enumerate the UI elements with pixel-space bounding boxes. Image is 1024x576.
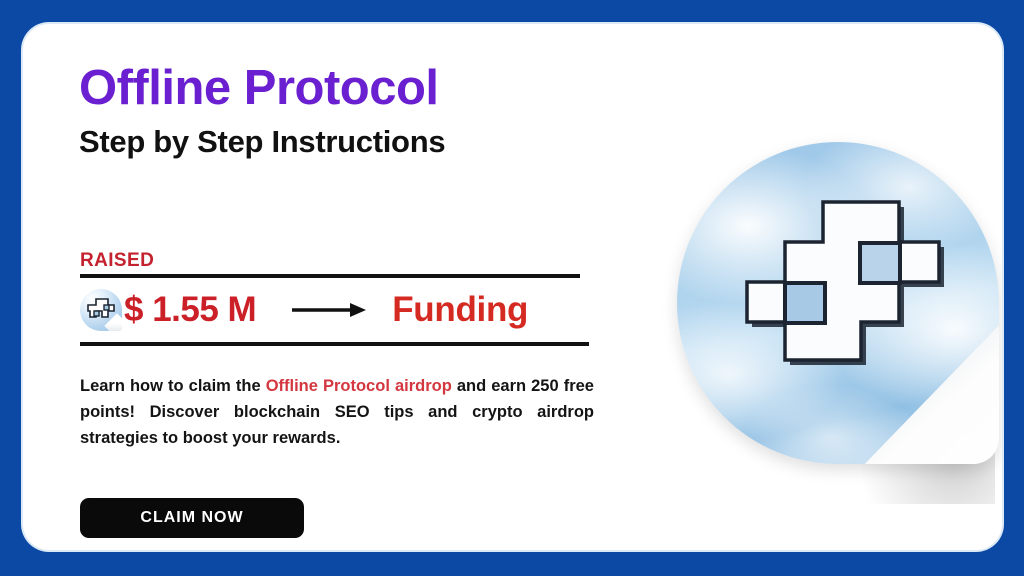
divider-top bbox=[80, 274, 580, 278]
page-subtitle: Step by Step Instructions bbox=[79, 124, 445, 160]
claim-now-button[interactable]: CLAIM NOW bbox=[80, 498, 304, 538]
sticker-peel-curl bbox=[855, 319, 999, 464]
sticker-disc bbox=[677, 142, 999, 464]
description-part1: Learn how to claim the bbox=[80, 377, 266, 395]
description-highlight: Offline Protocol airdrop bbox=[266, 377, 452, 395]
funding-row: $ 1.55 M Funding bbox=[80, 282, 600, 338]
offline-protocol-logo-icon bbox=[80, 289, 122, 331]
left-column: Offline Protocol Step by Step Instructio… bbox=[57, 24, 637, 550]
divider-bottom bbox=[80, 342, 589, 346]
page-title: Offline Protocol bbox=[79, 60, 439, 116]
raised-label: RAISED bbox=[80, 250, 154, 272]
description-text: Learn how to claim the Offline Protocol … bbox=[80, 373, 594, 451]
raised-amount: $ 1.55 M bbox=[124, 290, 256, 330]
funding-label: Funding bbox=[392, 290, 528, 330]
arrow-right-icon bbox=[292, 301, 366, 319]
sticker-artwork bbox=[655, 120, 1001, 510]
banner: Offline Protocol Step by Step Instructio… bbox=[0, 0, 1024, 576]
content-card: Offline Protocol Step by Step Instructio… bbox=[23, 24, 1002, 550]
